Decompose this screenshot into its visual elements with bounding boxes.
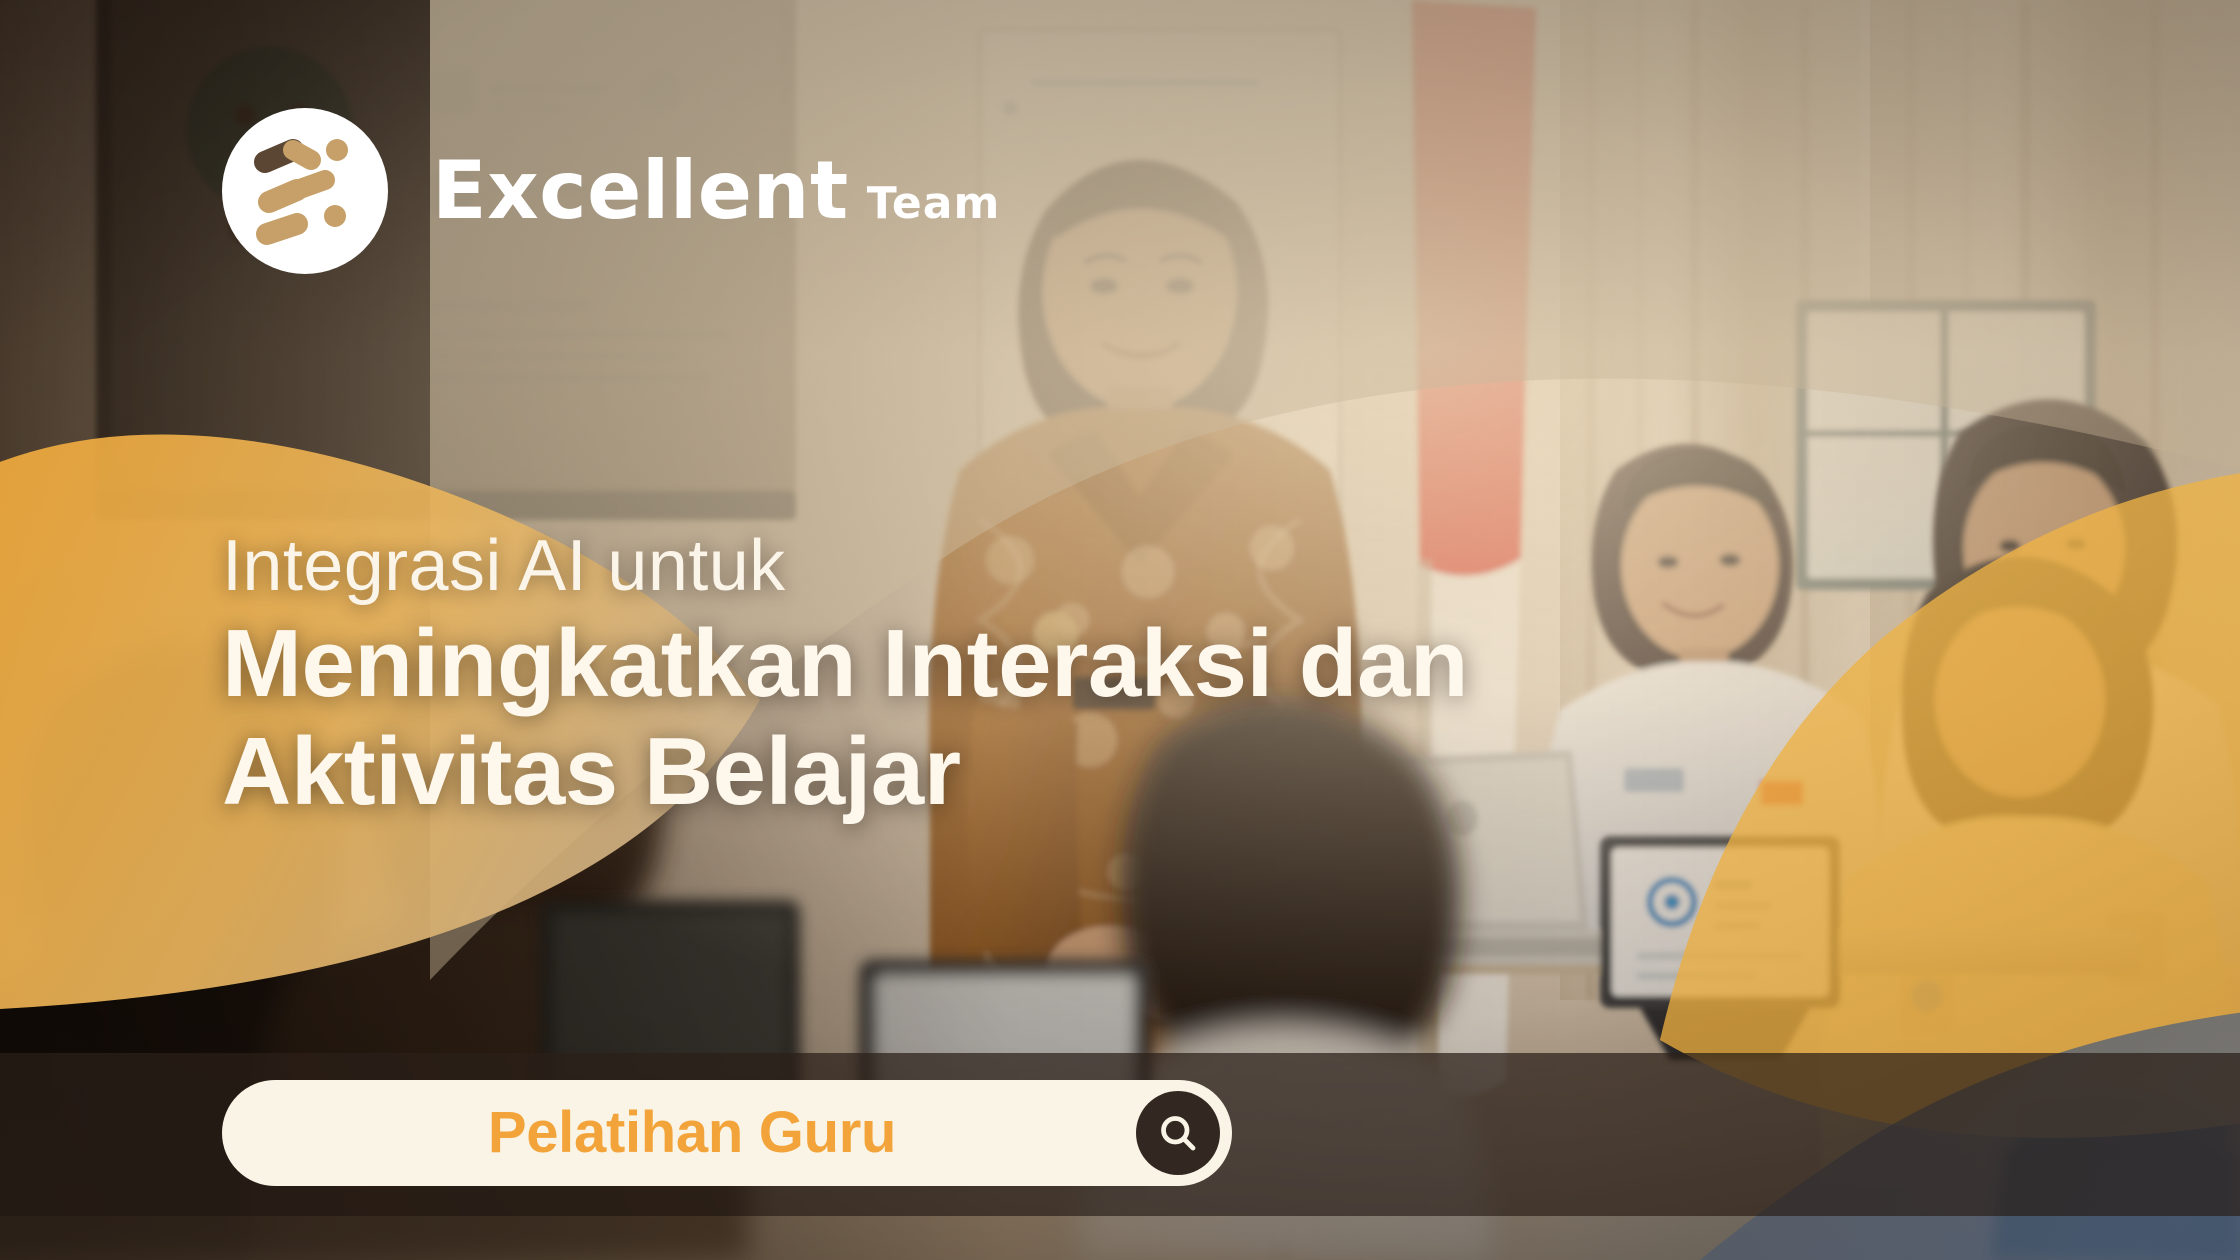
- logo-badge: [222, 108, 388, 274]
- search-pill-label: Pelatihan Guru: [488, 1104, 896, 1162]
- headline-block: Integrasi AI untuk Meningkatkan Interaks…: [222, 528, 1982, 825]
- headline-eyebrow: Integrasi AI untuk: [222, 528, 1982, 604]
- logo-wordmark: Excellent Team: [432, 151, 1000, 231]
- logo-name-secondary: Team: [867, 182, 1001, 226]
- headline-line-2: Aktivitas Belajar: [222, 718, 1982, 826]
- search-icon[interactable]: [1136, 1091, 1220, 1175]
- search-pill[interactable]: Pelatihan Guru: [222, 1080, 1232, 1186]
- excellent-dots-logo-icon: [253, 136, 357, 246]
- bottom-footer-strip: [0, 1216, 2240, 1260]
- headline-line-1: Meningkatkan Interaksi dan: [222, 610, 1982, 718]
- promo-banner: Excellent Team Integrasi AI untuk Mening…: [0, 0, 2240, 1260]
- logo-name-primary: Excellent: [432, 151, 849, 231]
- brand-logo[interactable]: Excellent Team: [222, 108, 1000, 274]
